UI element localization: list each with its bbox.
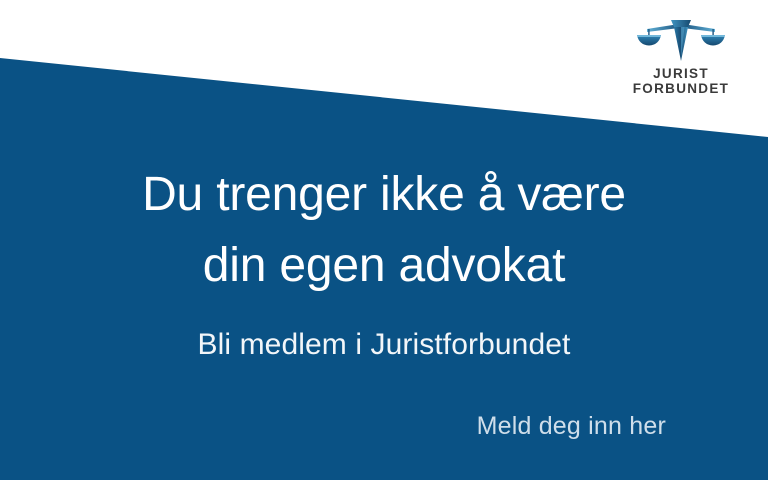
advertisement-banner: JURIST FORBUNDET Du trenger ikke å være …: [0, 0, 768, 480]
banner-content: Du trenger ikke å være din egen advokat …: [0, 0, 768, 480]
headline-line-2: din egen advokat: [0, 231, 768, 302]
headline: Du trenger ikke å være din egen advokat: [0, 160, 768, 301]
join-now-link[interactable]: Meld deg inn her: [477, 412, 666, 441]
subheadline: Bli medlem i Juristforbundet: [0, 328, 768, 362]
headline-line-1: Du trenger ikke å være: [0, 160, 768, 231]
